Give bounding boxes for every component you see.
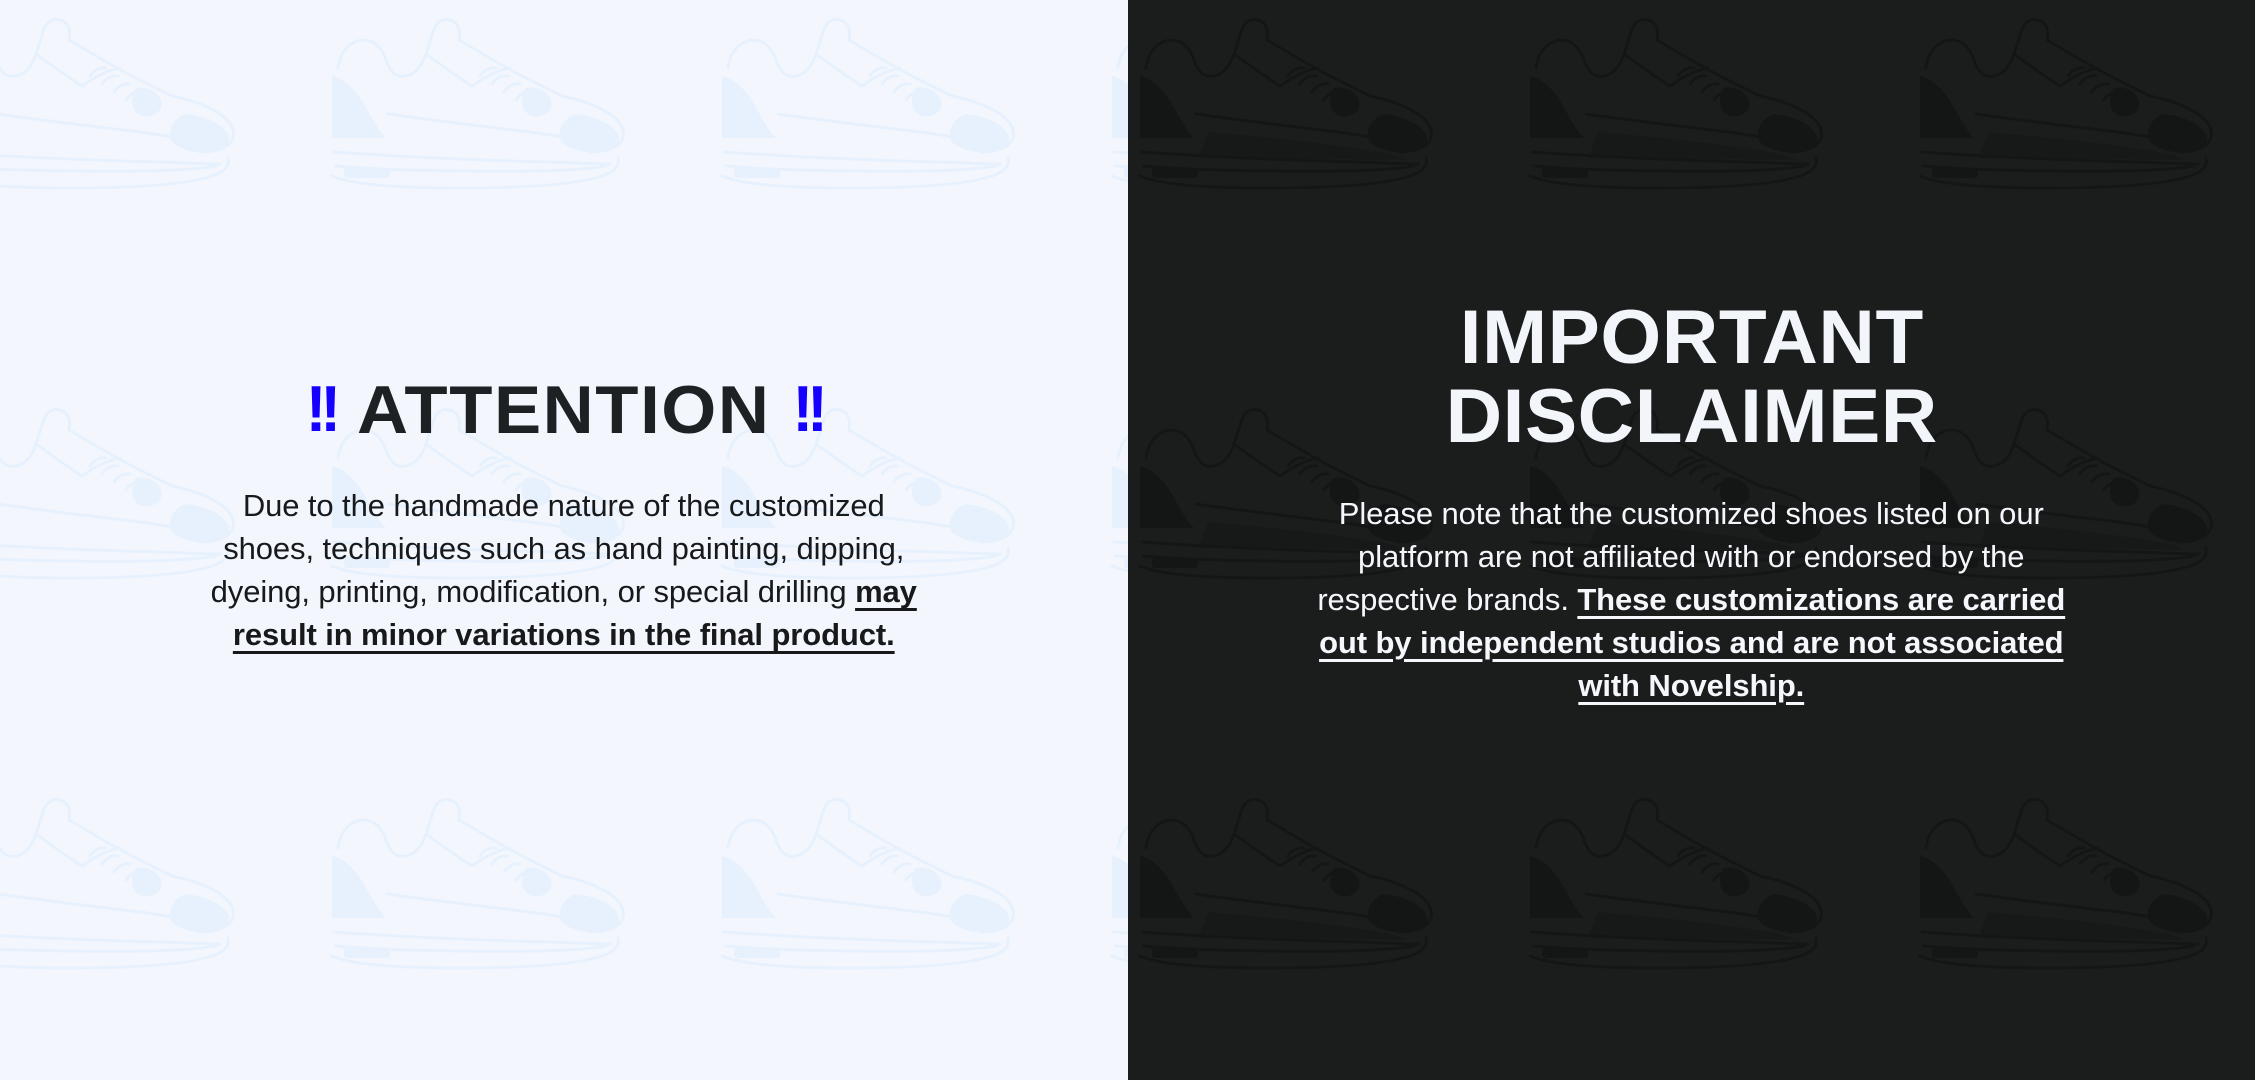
attention-body-plain: Due to the handmade nature of the custom… xyxy=(211,488,905,609)
disclaimer-banner: !! ATTENTION !! Due to the handmade natu… xyxy=(0,0,2255,1080)
disclaimer-panel: IMPORTANT DISCLAIMER Please note that th… xyxy=(1128,0,2255,1080)
disclaimer-body: Please note that the customized shoes li… xyxy=(1311,492,2071,707)
attention-body: Due to the handmade nature of the custom… xyxy=(204,484,924,656)
disclaimer-heading-line-1: IMPORTANT xyxy=(1152,299,2231,377)
disclaimer-content: IMPORTANT DISCLAIMER Please note that th… xyxy=(1128,299,2255,707)
attention-panel: !! ATTENTION !! Due to the handmade natu… xyxy=(0,0,1128,1080)
attention-heading-row: !! ATTENTION !! xyxy=(40,376,1088,444)
attention-content: !! ATTENTION !! Due to the handmade natu… xyxy=(0,376,1128,656)
double-exclamation-icon-right: !! xyxy=(793,377,822,442)
attention-heading: ATTENTION xyxy=(357,376,770,444)
disclaimer-heading-line-2: DISCLAIMER xyxy=(1152,378,2231,456)
double-exclamation-icon-left: !! xyxy=(306,377,335,442)
disclaimer-heading: IMPORTANT DISCLAIMER xyxy=(1152,299,2231,456)
